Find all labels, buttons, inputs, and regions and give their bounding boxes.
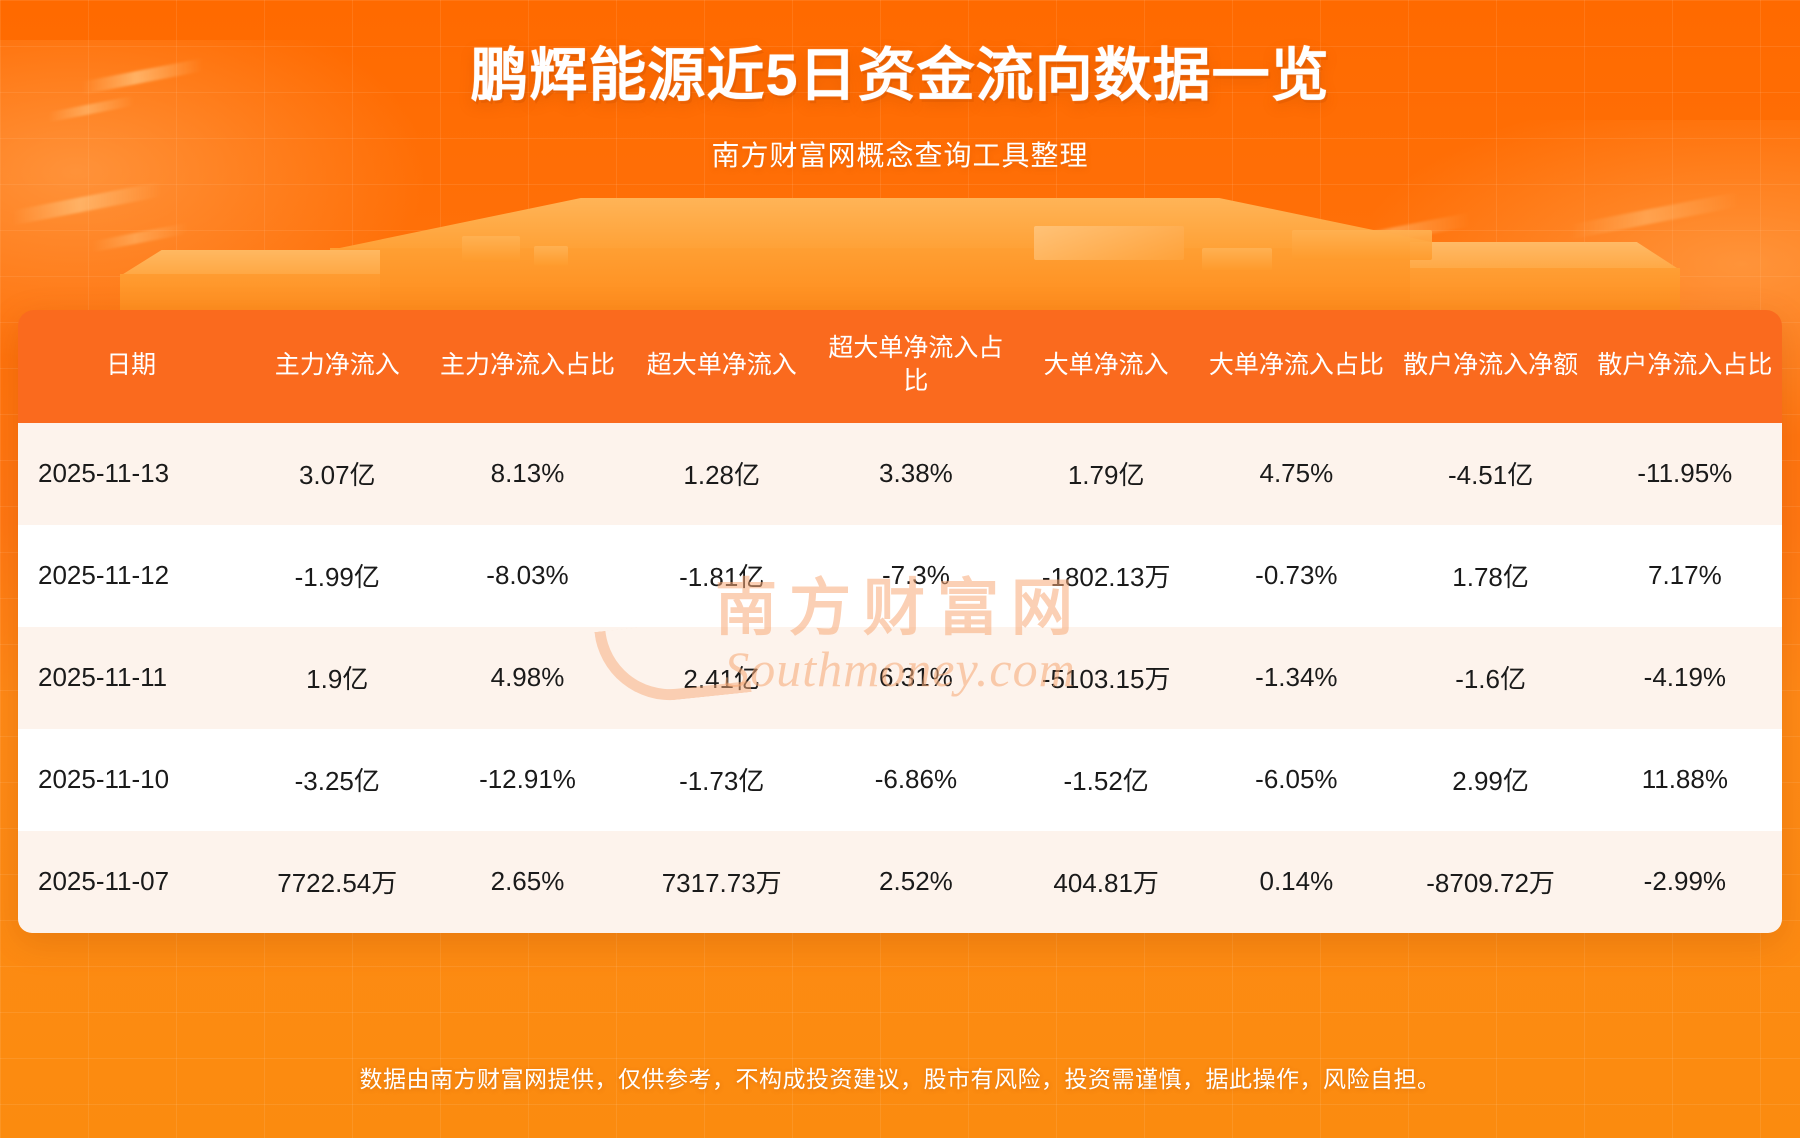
cell-retail_pct: -4.19% bbox=[1588, 627, 1782, 729]
cell-retail_net: 2.99亿 bbox=[1393, 729, 1587, 831]
podium-plate-center-body bbox=[330, 248, 1470, 316]
cell-xl_net: 1.28亿 bbox=[625, 423, 819, 525]
table-header-row: 日期主力净流入主力净流入占比超大单净流入超大单净流入占比大单净流入大单净流入占比… bbox=[18, 310, 1782, 423]
cell-main_net: -1.99亿 bbox=[244, 525, 430, 627]
header-block: 鹏辉能源近5日资金流向数据一览 南方财富网概念查询工具整理 bbox=[0, 0, 1800, 174]
cell-large_net: -5103.15万 bbox=[1013, 627, 1199, 729]
podium-plate-center-top bbox=[330, 198, 1470, 250]
cell-large_pct: 4.75% bbox=[1199, 423, 1393, 525]
podium-cube bbox=[1034, 226, 1184, 260]
data-table-card: 日期主力净流入主力净流入占比超大单净流入超大单净流入占比大单净流入大单净流入占比… bbox=[18, 310, 1782, 933]
column-header-large_net: 大单净流入 bbox=[1013, 310, 1199, 423]
cell-retail_net: -8709.72万 bbox=[1393, 831, 1587, 933]
podium-cube bbox=[1202, 248, 1272, 270]
cell-xl_net: -1.81亿 bbox=[625, 525, 819, 627]
table-row: 2025-11-12-1.99亿-8.03%-1.81亿-7.3%-1802.1… bbox=[18, 525, 1782, 627]
column-header-retail_pct: 散户净流入占比 bbox=[1588, 310, 1782, 423]
cell-large_pct: -0.73% bbox=[1199, 525, 1393, 627]
cell-main_pct: 4.98% bbox=[430, 627, 624, 729]
table-body: 2025-11-133.07亿8.13%1.28亿3.38%1.79亿4.75%… bbox=[18, 423, 1782, 933]
podium-cube bbox=[534, 246, 568, 266]
column-header-retail_net: 散户净流入净额 bbox=[1393, 310, 1587, 423]
cell-date: 2025-11-13 bbox=[18, 423, 244, 525]
podium-cube bbox=[1292, 230, 1432, 260]
cell-main_pct: -12.91% bbox=[430, 729, 624, 831]
cell-retail_pct: -2.99% bbox=[1588, 831, 1782, 933]
cell-large_pct: -1.34% bbox=[1199, 627, 1393, 729]
cell-date: 2025-11-10 bbox=[18, 729, 244, 831]
column-header-date: 日期 bbox=[18, 310, 244, 423]
cell-retail_net: -1.6亿 bbox=[1393, 627, 1587, 729]
cell-xl_pct: 3.38% bbox=[819, 423, 1013, 525]
page-title: 鹏辉能源近5日资金流向数据一览 bbox=[0, 42, 1800, 110]
cell-retail_net: -4.51亿 bbox=[1393, 423, 1587, 525]
cell-main_pct: 8.13% bbox=[430, 423, 624, 525]
cell-large_net: -1.52亿 bbox=[1013, 729, 1199, 831]
podium-plate-left-top bbox=[120, 250, 380, 276]
cell-xl_net: 7317.73万 bbox=[625, 831, 819, 933]
podium-cube bbox=[462, 236, 520, 262]
table-header: 日期主力净流入主力净流入占比超大单净流入超大单净流入占比大单净流入大单净流入占比… bbox=[18, 310, 1782, 423]
table-row: 2025-11-10-3.25亿-12.91%-1.73亿-6.86%-1.52… bbox=[18, 729, 1782, 831]
cell-xl_net: -1.73亿 bbox=[625, 729, 819, 831]
table-row: 2025-11-111.9亿4.98%2.41亿6.31%-5103.15万-1… bbox=[18, 627, 1782, 729]
disclaimer-text: 数据由南方财富网提供，仅供参考，不构成投资建议，股市有风险，投资需谨慎，据此操作… bbox=[0, 1060, 1800, 1094]
cell-retail_pct: 7.17% bbox=[1588, 525, 1782, 627]
cell-date: 2025-11-11 bbox=[18, 627, 244, 729]
cell-large_pct: 0.14% bbox=[1199, 831, 1393, 933]
column-header-main_net: 主力净流入 bbox=[244, 310, 430, 423]
table-row: 2025-11-133.07亿8.13%1.28亿3.38%1.79亿4.75%… bbox=[18, 423, 1782, 525]
light-streak bbox=[92, 223, 188, 253]
cell-large_net: 1.79亿 bbox=[1013, 423, 1199, 525]
cell-xl_pct: 6.31% bbox=[819, 627, 1013, 729]
cell-main_net: 7722.54万 bbox=[244, 831, 430, 933]
cell-main_net: -3.25亿 bbox=[244, 729, 430, 831]
podium-plate-right-top bbox=[1410, 242, 1680, 270]
cell-main_net: 3.07亿 bbox=[244, 423, 430, 525]
cell-large_net: 404.81万 bbox=[1013, 831, 1199, 933]
cell-xl_pct: -7.3% bbox=[819, 525, 1013, 627]
light-streak bbox=[12, 181, 162, 225]
light-streak bbox=[1330, 212, 1470, 253]
cell-date: 2025-11-12 bbox=[18, 525, 244, 627]
cell-main_net: 1.9亿 bbox=[244, 627, 430, 729]
poster-canvas: 鹏辉能源近5日资金流向数据一览 南方财富网概念查询工具整理 日期主力净流入主力净… bbox=[0, 0, 1800, 1138]
cell-xl_pct: -6.86% bbox=[819, 729, 1013, 831]
cell-retail_pct: 11.88% bbox=[1588, 729, 1782, 831]
cell-main_pct: -8.03% bbox=[430, 525, 624, 627]
cell-retail_pct: -11.95% bbox=[1588, 423, 1782, 525]
page-subtitle: 南方财富网概念查询工具整理 bbox=[0, 134, 1800, 174]
cell-xl_pct: 2.52% bbox=[819, 831, 1013, 933]
cell-date: 2025-11-07 bbox=[18, 831, 244, 933]
column-header-xl_net: 超大单净流入 bbox=[625, 310, 819, 423]
column-header-xl_pct: 超大单净流入占比 bbox=[819, 310, 1013, 423]
fund-flow-table: 日期主力净流入主力净流入占比超大单净流入超大单净流入占比大单净流入大单净流入占比… bbox=[18, 310, 1782, 933]
cell-main_pct: 2.65% bbox=[430, 831, 624, 933]
cell-retail_net: 1.78亿 bbox=[1393, 525, 1587, 627]
light-streak bbox=[1510, 247, 1620, 280]
light-streak bbox=[1570, 191, 1740, 239]
table-row: 2025-11-077722.54万2.65%7317.73万2.52%404.… bbox=[18, 831, 1782, 933]
cell-large_net: -1802.13万 bbox=[1013, 525, 1199, 627]
column-header-large_pct: 大单净流入占比 bbox=[1199, 310, 1393, 423]
cell-large_pct: -6.05% bbox=[1199, 729, 1393, 831]
cell-xl_net: 2.41亿 bbox=[625, 627, 819, 729]
column-header-main_pct: 主力净流入占比 bbox=[430, 310, 624, 423]
